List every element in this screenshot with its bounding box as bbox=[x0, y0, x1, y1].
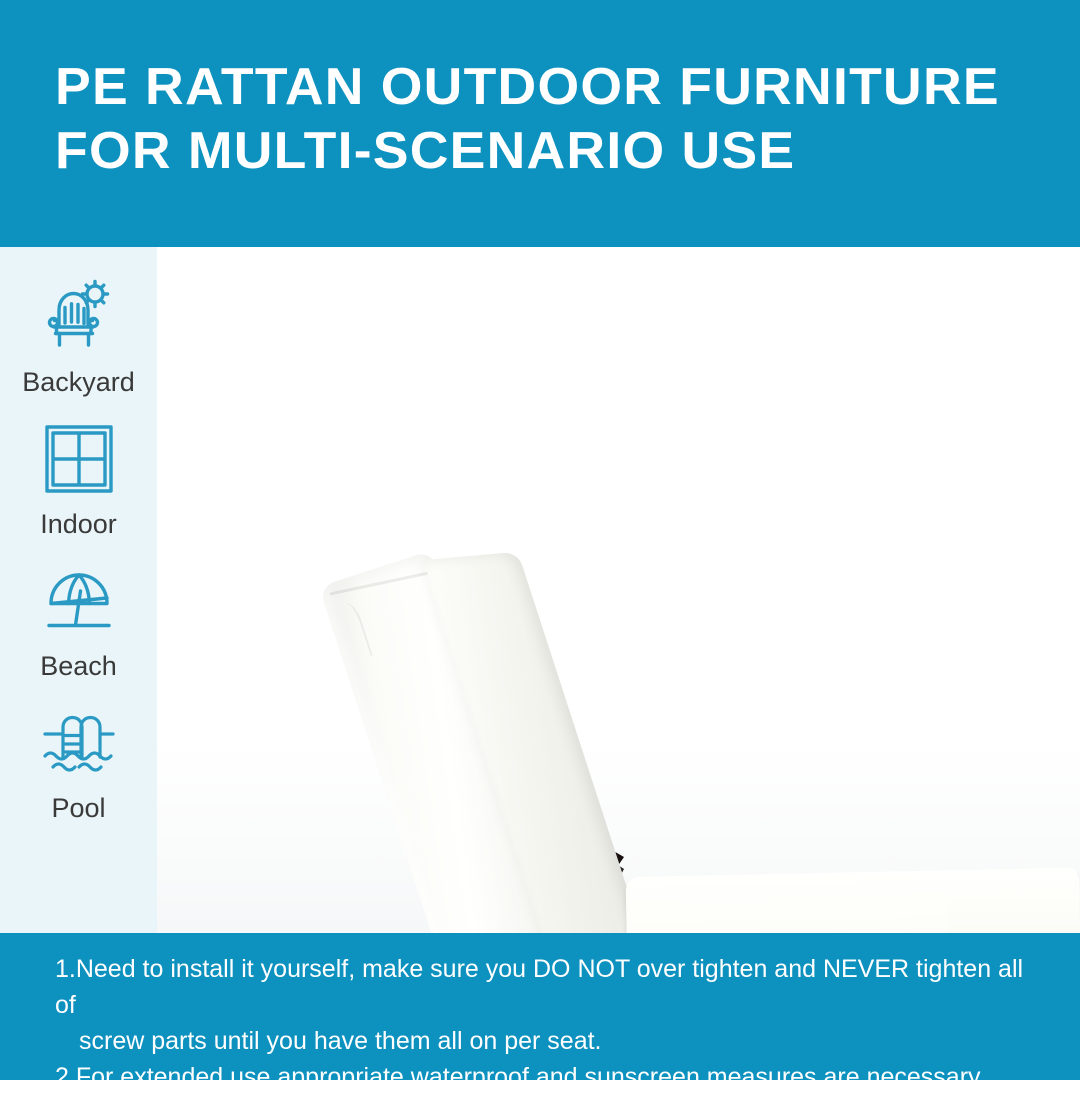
footer-banner: 1.Need to install it yourself, make sure… bbox=[0, 933, 1080, 1080]
page-title-line-2: FOR MULTI-SCENARIO USE bbox=[55, 119, 1075, 183]
window-icon bbox=[33, 413, 125, 505]
scenario-label-beach: Beach bbox=[40, 649, 117, 683]
product-photo-canvas bbox=[157, 247, 1080, 933]
photo-background bbox=[157, 247, 1080, 933]
product-infographic-page: PE RATTAN OUTDOOR FURNITURE FOR MULTI-SC… bbox=[0, 0, 1080, 1080]
product-photo bbox=[157, 247, 1080, 933]
adirondack-chair-sun-icon bbox=[33, 271, 125, 363]
instruction-line-2: screw parts until you have them all on p… bbox=[55, 1023, 1045, 1059]
leg-rest-cushion bbox=[947, 874, 1080, 933]
scenario-label-backyard: Backyard bbox=[22, 365, 135, 399]
page-title: PE RATTAN OUTDOOR FURNITURE FOR MULTI-SC… bbox=[55, 55, 1075, 183]
scenario-label-pool: Pool bbox=[51, 791, 105, 825]
scenario-item-indoor: Indoor bbox=[0, 413, 157, 541]
scenario-label-indoor: Indoor bbox=[40, 507, 117, 541]
scenario-item-pool: Pool bbox=[0, 697, 157, 825]
instruction-line-1: 1.Need to install it yourself, make sure… bbox=[55, 951, 1045, 1023]
scenario-item-backyard: Backyard bbox=[0, 271, 157, 399]
page-title-line-1: PE RATTAN OUTDOOR FURNITURE bbox=[55, 55, 1075, 119]
scenario-sidebar: Backyard Indoor bbox=[0, 247, 157, 933]
instruction-line-3: 2.For extended use,appropriate waterproo… bbox=[55, 1059, 1045, 1095]
pool-ladder-icon bbox=[33, 697, 125, 789]
beach-umbrella-icon bbox=[33, 555, 125, 647]
header-banner: PE RATTAN OUTDOOR FURNITURE FOR MULTI-SC… bbox=[0, 0, 1080, 247]
scenario-item-beach: Beach bbox=[0, 555, 157, 683]
instruction-list: 1.Need to install it yourself, make sure… bbox=[55, 951, 1045, 1095]
